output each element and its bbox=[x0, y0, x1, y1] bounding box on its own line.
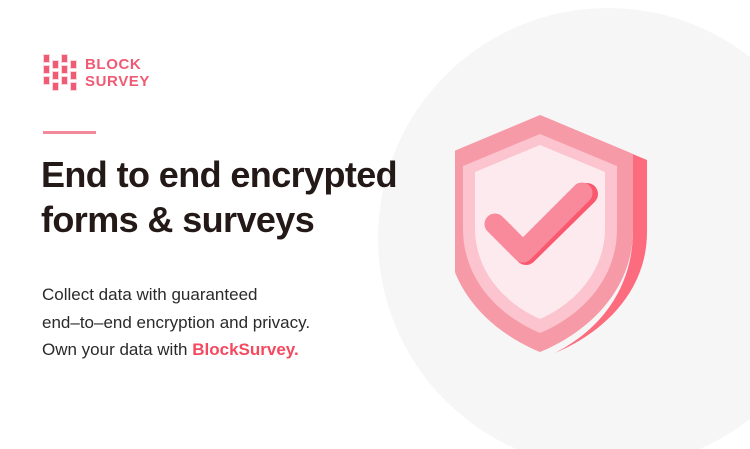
logo-column-4 bbox=[70, 54, 77, 94]
brand-wordmark-line-2: SURVEY bbox=[85, 74, 150, 91]
block-grid-icon bbox=[43, 54, 76, 94]
logo-column-3 bbox=[61, 54, 68, 94]
description-line-2: end–to–end encryption and privacy. bbox=[42, 309, 402, 337]
headline-line-2: forms & surveys bbox=[41, 197, 461, 242]
logo-column-2 bbox=[52, 54, 59, 94]
brand-wordmark-line-1: BLOCK bbox=[85, 57, 150, 74]
brand-link[interactable]: BlockSurvey. bbox=[192, 340, 298, 359]
poster-canvas: BLOCK SURVEY End to end encrypted forms … bbox=[0, 0, 750, 449]
headline-line-1: End to end encrypted bbox=[41, 152, 461, 197]
accent-divider bbox=[43, 131, 96, 134]
security-shield-check-icon bbox=[455, 112, 655, 357]
description-line-3: Own your data with BlockSurvey. bbox=[42, 336, 402, 364]
description-line-3-text: Own your data with bbox=[42, 340, 192, 359]
hero-description: Collect data with guaranteed end–to–end … bbox=[42, 281, 402, 364]
brand-logo[interactable]: BLOCK SURVEY bbox=[43, 54, 150, 94]
brand-wordmark: BLOCK SURVEY bbox=[85, 57, 150, 91]
page-title: End to end encrypted forms & surveys bbox=[41, 152, 461, 242]
description-line-1: Collect data with guaranteed bbox=[42, 281, 402, 309]
logo-column-1 bbox=[43, 54, 50, 94]
